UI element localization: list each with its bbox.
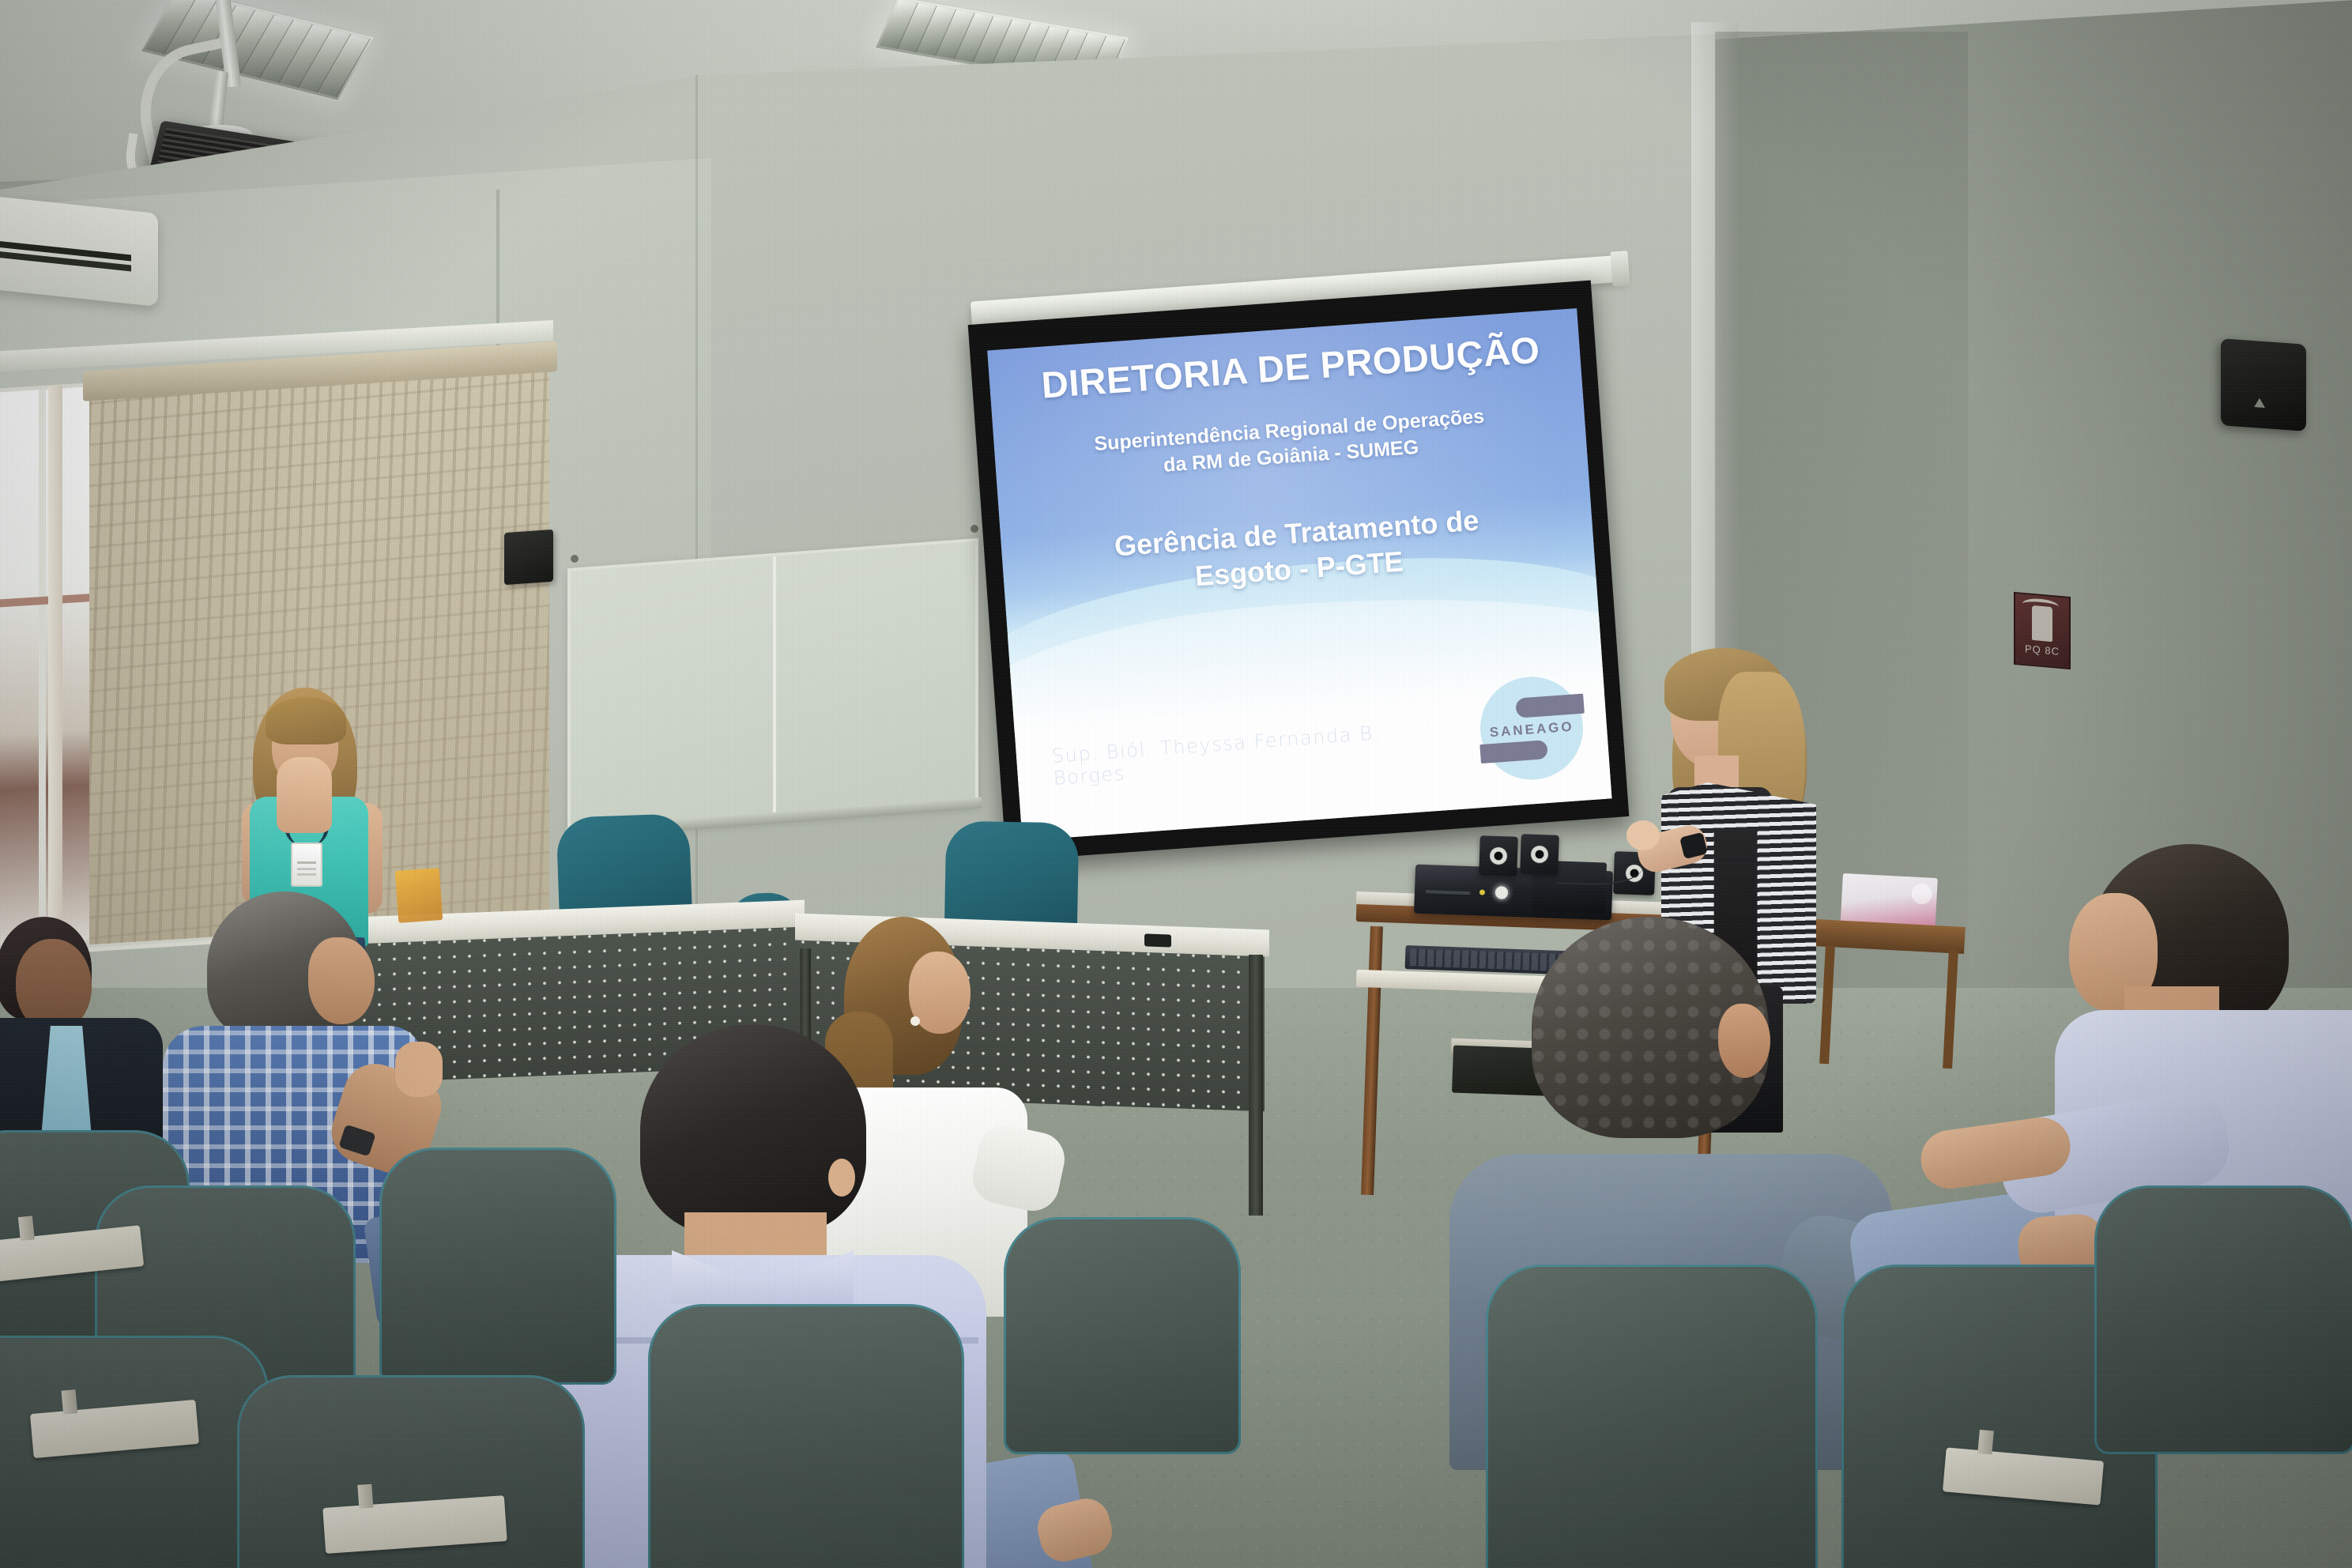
slide-title: DIRETORIA DE PRODUÇÃO	[1006, 328, 1575, 405]
pc-power-button[interactable]	[1495, 886, 1509, 899]
auditorium-seat[interactable]	[2094, 1185, 2352, 1454]
saneago-logo: SANEAGO	[1477, 673, 1587, 783]
pc-speaker-center	[1520, 834, 1559, 875]
lavender-man-hair	[640, 1024, 866, 1236]
window-post	[48, 385, 62, 948]
lavender-man-ear	[828, 1159, 855, 1197]
pc-activity-led	[1479, 890, 1485, 895]
whiteboard-screw	[571, 555, 579, 563]
ac-vent-louvers	[0, 239, 131, 262]
interpreter-signing-hands	[277, 757, 332, 833]
remote-control-on-table[interactable]	[1144, 933, 1171, 947]
auditorium-seat[interactable]	[648, 1304, 964, 1568]
wall-speaker-left	[504, 530, 553, 585]
pc-drive-slot	[1426, 890, 1470, 895]
slide-author: Sup. Biól. Theyssa Fernanda B. Borges	[1051, 717, 1443, 789]
projection-screen-surface: DIRETORIA DE PRODUÇÃO Superintendência R…	[987, 308, 1612, 841]
pc-speaker-left	[1479, 835, 1518, 876]
interpreter-id-badge	[291, 842, 322, 887]
curly-man-face	[1718, 1004, 1770, 1078]
conference-room-scene: PQ 8C DIRETORIA DE PRODUÇÃO Superintendê…	[0, 0, 2352, 1568]
projection-screen: DIRETORIA DE PRODUÇÃO Superintendência R…	[968, 281, 1630, 861]
whiteboard-screw	[971, 525, 978, 533]
fire-extinguisher-sign: PQ 8C	[2014, 592, 2071, 669]
table-leg	[1249, 955, 1263, 1216]
auditorium-seat[interactable]	[1486, 1265, 1818, 1568]
plaid-man-face	[308, 937, 375, 1024]
auditorium-seat[interactable]	[1004, 1217, 1241, 1454]
auditorium-seat[interactable]	[379, 1148, 616, 1385]
whiteboard	[567, 538, 978, 837]
interpreter-hair-front	[266, 697, 346, 744]
window-glass	[0, 386, 91, 946]
air-conditioner-unit	[0, 194, 158, 307]
whiteboard-seam	[773, 556, 776, 819]
fire-extinguisher-label: PQ 8C	[2025, 643, 2060, 658]
fire-extinguisher-icon	[2032, 605, 2052, 641]
window-mullion	[39, 390, 46, 944]
slide-subtitle: Superintendência Regional de Operações d…	[1035, 399, 1545, 488]
presenter-hand	[1626, 820, 1660, 850]
wall-speaker-right	[2221, 338, 2306, 432]
wall-seam	[695, 75, 698, 1008]
presentation-slide: DIRETORIA DE PRODUÇÃO Superintendência R…	[987, 308, 1612, 841]
plaid-man-hand	[395, 1042, 443, 1097]
